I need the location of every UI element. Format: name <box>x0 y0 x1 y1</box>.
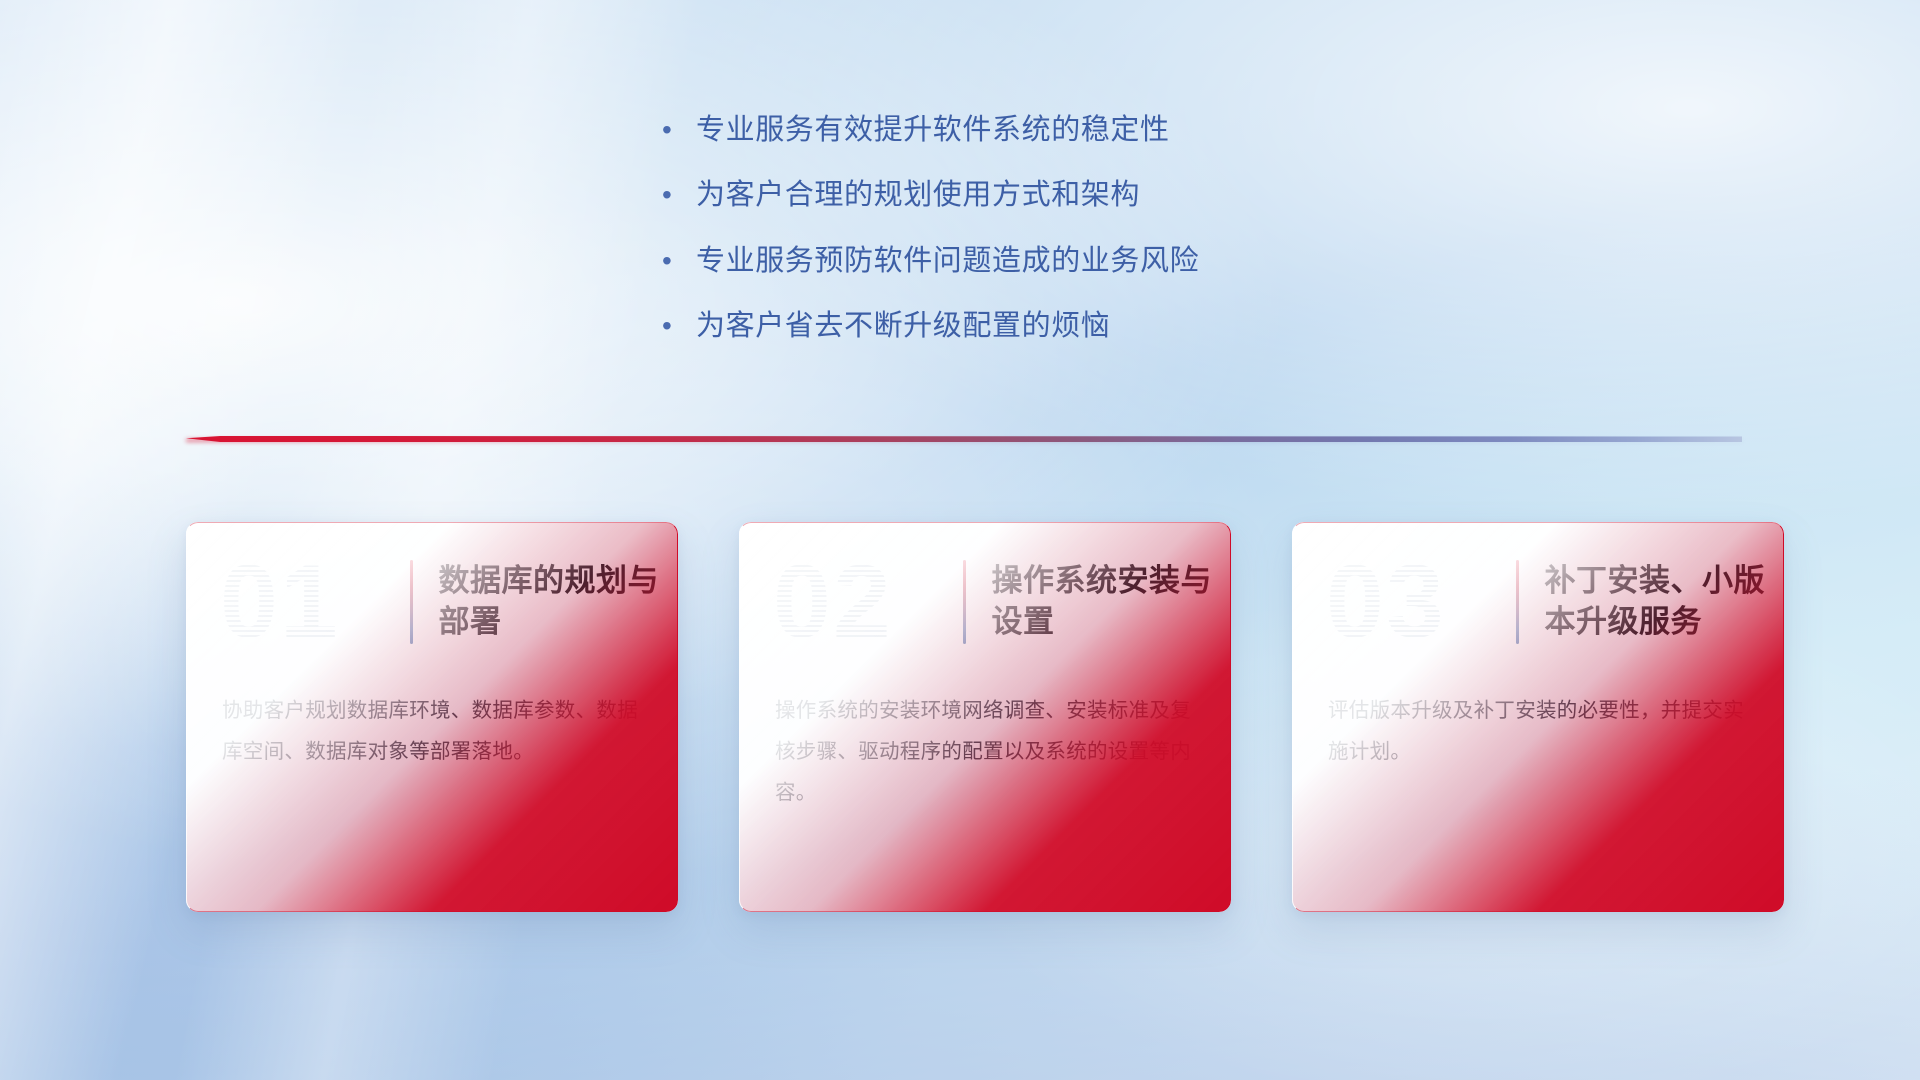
bullet-dot-icon: • <box>662 181 696 209</box>
card-header: 01 数据库的规划与部署 <box>186 522 678 682</box>
bullet-label: 为客户省去不断升级配置的烦恼 <box>696 308 1110 344</box>
bullet-label: 专业服务有效提升软件系统的稳定性 <box>696 112 1170 148</box>
card-title: 补丁安装、小版本升级服务 <box>1545 561 1781 643</box>
section-divider <box>186 430 1742 448</box>
list-item: • 专业服务预防软件问题造成的业务风险 <box>662 243 1462 279</box>
card-description: 评估版本升级及补丁安装的必要性，并提交实施计划。 <box>1292 682 1784 772</box>
card-description: 操作系统的安装环境网络调查、安装标准及复核步骤、驱动程序的配置以及系统的设置等内… <box>739 682 1231 813</box>
slide-canvas: • 专业服务有效提升软件系统的稳定性 • 为客户合理的规划使用方式和架构 • 专… <box>0 0 1920 1080</box>
card-title-divider-icon <box>410 560 413 644</box>
service-card[interactable]: 02 操作系统安装与设置 操作系统的安装环境网络调查、安装标准及复核步骤、驱动程… <box>739 522 1231 912</box>
service-card-group: 01 数据库的规划与部署 协助客户规划数据库环境、数据库参数、数据库空间、数据库… <box>186 522 1786 912</box>
divider-line <box>186 436 1742 442</box>
card-header: 02 操作系统安装与设置 <box>739 522 1231 682</box>
list-item: • 为客户合理的规划使用方式和架构 <box>662 177 1462 213</box>
card-header: 03 补丁安装、小版本升级服务 <box>1292 522 1784 682</box>
bullet-dot-icon: • <box>662 247 696 275</box>
bullet-dot-icon: • <box>662 312 696 340</box>
card-description: 协助客户规划数据库环境、数据库参数、数据库空间、数据库对象等部署落地。 <box>186 682 678 772</box>
card-number-watermark: 02 <box>773 550 963 654</box>
benefits-bullet-list: • 专业服务有效提升软件系统的稳定性 • 为客户合理的规划使用方式和架构 • 专… <box>662 112 1462 373</box>
bullet-dot-icon: • <box>662 116 696 144</box>
bullet-label: 专业服务预防软件问题造成的业务风险 <box>696 243 1199 279</box>
bullet-label: 为客户合理的规划使用方式和架构 <box>696 177 1140 213</box>
card-title-divider-icon <box>1516 560 1519 644</box>
list-item: • 为客户省去不断升级配置的烦恼 <box>662 308 1462 344</box>
card-number-watermark: 01 <box>220 550 410 654</box>
service-card[interactable]: 01 数据库的规划与部署 协助客户规划数据库环境、数据库参数、数据库空间、数据库… <box>186 522 678 912</box>
card-title: 数据库的规划与部署 <box>439 561 675 643</box>
card-title: 操作系统安装与设置 <box>992 561 1228 643</box>
card-number-watermark: 03 <box>1326 550 1516 654</box>
card-title-divider-icon <box>963 560 966 644</box>
service-card[interactable]: 03 补丁安装、小版本升级服务 评估版本升级及补丁安装的必要性，并提交实施计划。 <box>1292 522 1784 912</box>
list-item: • 专业服务有效提升软件系统的稳定性 <box>662 112 1462 148</box>
